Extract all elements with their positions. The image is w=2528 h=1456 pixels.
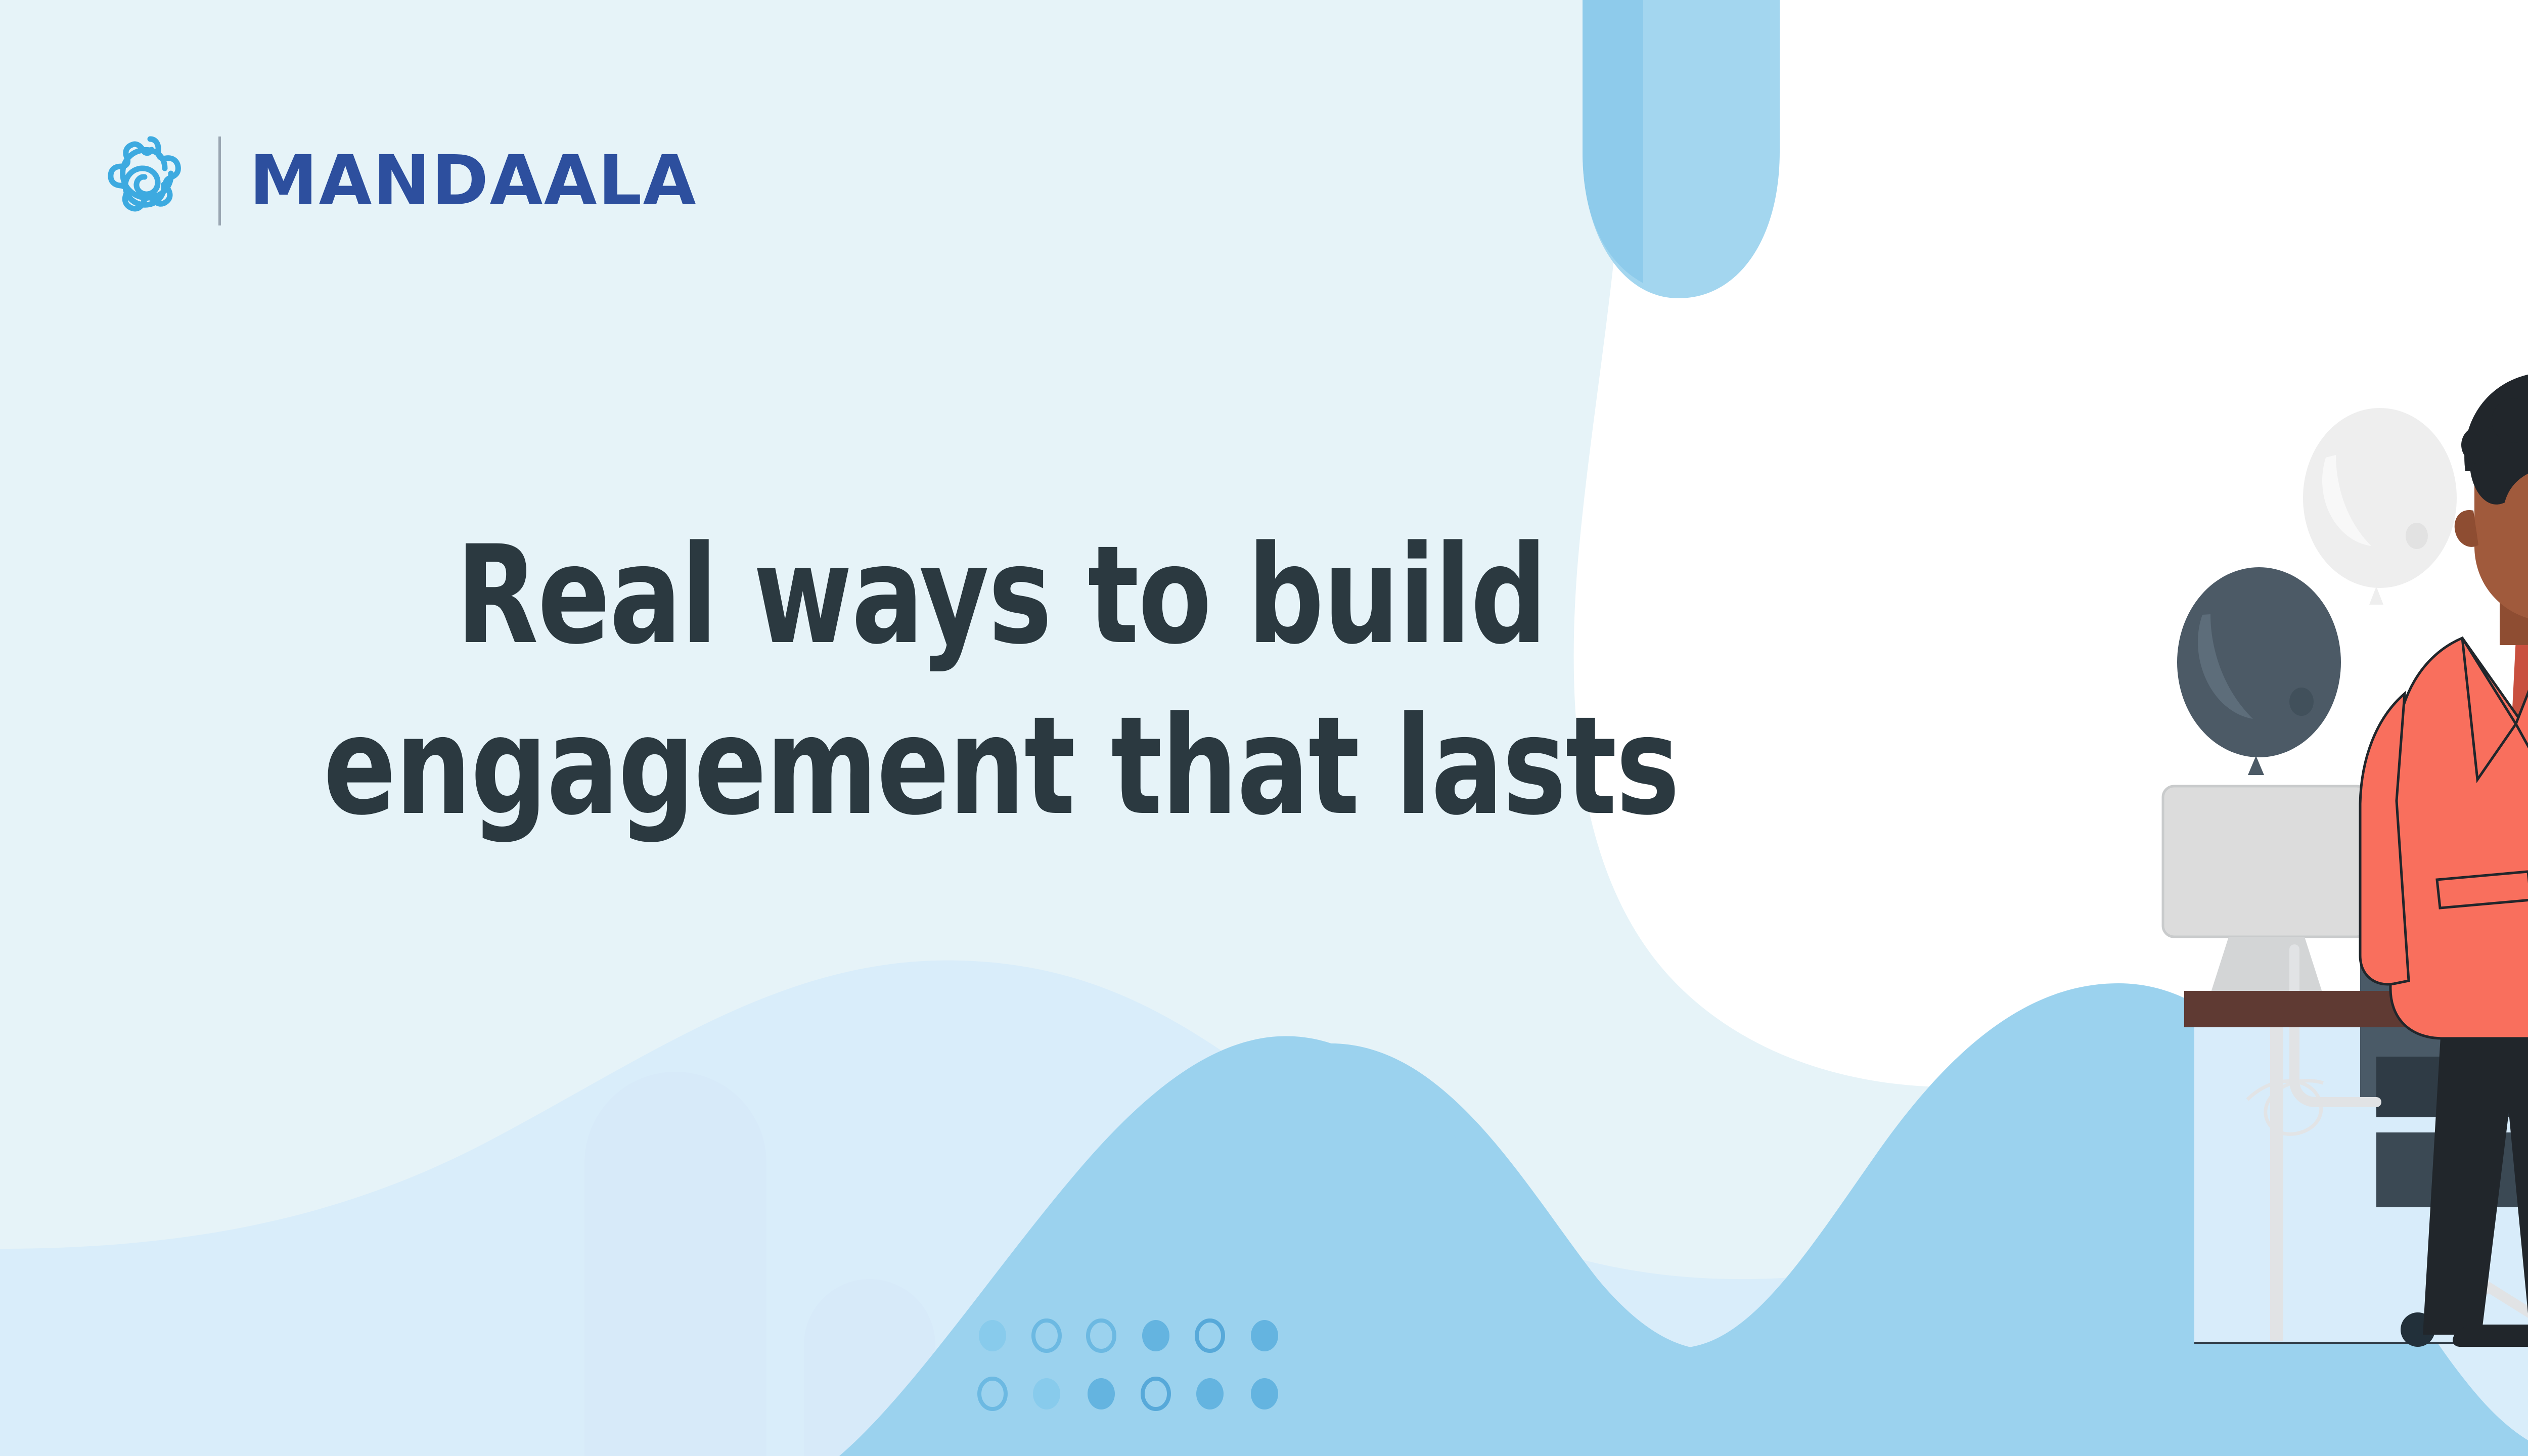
- brand-name: MANDAALA: [249, 147, 697, 215]
- logo-divider: [218, 136, 221, 225]
- spiral-flower-mark-icon: [105, 133, 195, 229]
- headline-line-2: engagement that lasts: [267, 681, 1735, 852]
- monitor-left: [2163, 786, 2368, 1008]
- balloon-white-left: [2303, 408, 2457, 605]
- marketing-banner: MANDAALA Real ways to build engagement t…: [0, 0, 2528, 1456]
- brand-logo[interactable]: MANDAALA: [105, 135, 697, 226]
- page-title: Real ways to build engagement that lasts: [267, 511, 1735, 852]
- headline-line-1: Real ways to build: [267, 511, 1735, 681]
- balloon-dark-left: [2177, 567, 2341, 775]
